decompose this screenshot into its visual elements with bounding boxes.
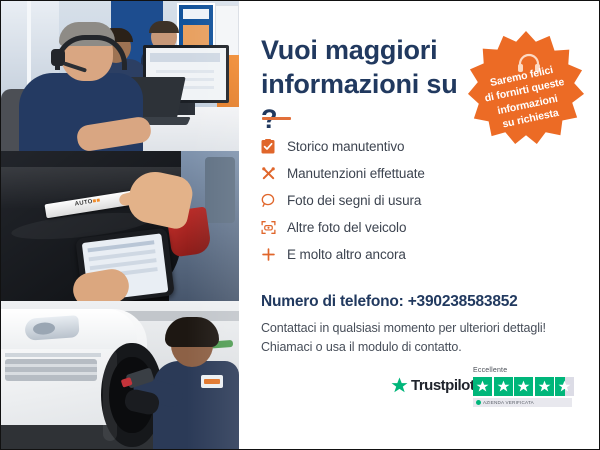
phone-line: Numero di telefono: +390238583852 xyxy=(261,293,518,311)
contact-line-1: Contattaci in qualsiasi momento per ulte… xyxy=(261,319,591,338)
clipboard-check-icon xyxy=(261,139,287,154)
star-1 xyxy=(473,377,492,396)
magnifier-icon xyxy=(261,193,287,208)
car-lift-photo xyxy=(1,301,239,450)
contact-line-2: Chiamaci o usa il modulo di contatto. xyxy=(261,338,591,357)
list-item-label: E molto altro ancora xyxy=(287,247,406,262)
rating-label: Eccellente xyxy=(473,367,507,374)
verified-label: AZIENDA VERIFICATA xyxy=(483,400,534,405)
photo-vignette xyxy=(1,1,239,151)
feature-list: Storico manutentivo Manutenzioni effettu… xyxy=(261,133,591,268)
plus-icon xyxy=(261,247,287,262)
star-2 xyxy=(494,377,513,396)
photo-vignette xyxy=(1,301,239,450)
trustpilot-wordmark: Trustpilot xyxy=(411,377,474,394)
star-4 xyxy=(535,377,554,396)
star-5-half xyxy=(555,377,574,396)
trustpilot-logo: Trustpilot xyxy=(391,377,474,394)
vehicle-inspection-photo: AUTO■■ xyxy=(1,151,239,301)
verified-company-badge: AZIENDA VERIFICATA xyxy=(473,398,572,407)
phone-number[interactable]: +390238583852 xyxy=(408,293,518,310)
list-item: Altre foto del veicolo xyxy=(261,214,591,241)
star-rating xyxy=(473,377,574,396)
contact-instructions: Contattaci in qualsiasi momento per ulte… xyxy=(261,319,591,358)
content-panel: Vuoi maggiori informazioni su ? Saremo f… xyxy=(239,1,599,449)
phone-label: Numero di telefono: xyxy=(261,293,404,310)
trustpilot-star-icon xyxy=(391,377,408,394)
verified-check-icon xyxy=(476,400,481,405)
title-underline xyxy=(262,117,291,120)
trustpilot-widget[interactable]: Trustpilot Eccellente AZIENDA VERIFICATA xyxy=(391,367,591,415)
list-item: Foto dei segni di usura xyxy=(261,187,591,214)
list-item-label: Storico manutentivo xyxy=(287,139,404,154)
list-item-label: Foto dei segni di usura xyxy=(287,193,421,208)
list-item: E molto altro ancora xyxy=(261,241,591,268)
callout-badge: Saremo felici di fornirti queste informa… xyxy=(467,29,585,147)
tools-cross-icon xyxy=(261,166,287,181)
advertisement-banner: AUTO■■ xyxy=(0,0,600,450)
page-title: Vuoi maggiori informazioni su ? xyxy=(261,33,476,136)
list-item-label: Altre foto del veicolo xyxy=(287,220,406,235)
list-item-label: Manutenzioni effettuate xyxy=(287,166,425,181)
photo-vignette xyxy=(1,151,239,301)
star-3 xyxy=(514,377,533,396)
list-item: Manutenzioni effettuate xyxy=(261,160,591,187)
photo-frame-icon xyxy=(261,220,287,235)
photo-column: AUTO■■ xyxy=(1,1,239,450)
call-center-photo xyxy=(1,1,239,151)
list-item: Storico manutentivo xyxy=(261,133,591,160)
